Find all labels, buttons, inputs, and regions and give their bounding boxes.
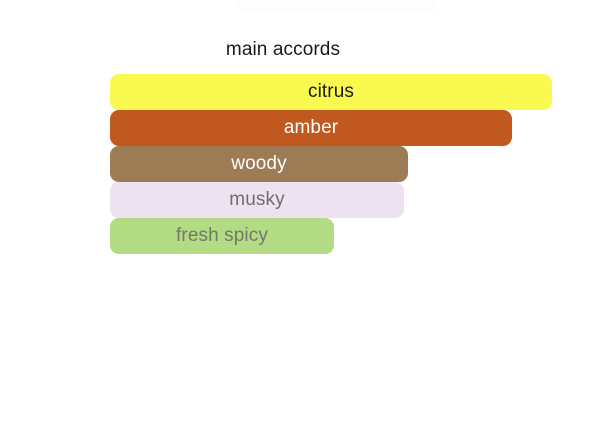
top-edge-band (236, 0, 438, 11)
bar-row: fresh spicy (110, 218, 570, 254)
accord-bar-fresh-spicy[interactable]: fresh spicy (110, 218, 334, 254)
accord-bar-label: musky (229, 190, 284, 210)
bar-row: citrus (110, 74, 570, 110)
accord-bar-label: fresh spicy (176, 226, 268, 246)
accord-bar-label: amber (284, 118, 338, 138)
accord-bar-woody[interactable]: woody (110, 146, 408, 182)
accord-bar-label: citrus (308, 82, 354, 102)
page-title: main accords (0, 38, 613, 62)
accord-bar-citrus[interactable]: citrus (110, 74, 552, 110)
bar-row: woody (110, 146, 570, 182)
bar-row: musky (110, 182, 570, 218)
accord-bar-amber[interactable]: amber (110, 110, 512, 146)
bar-row: amber (110, 110, 570, 146)
accords-bar-chart: citrus amber woody musky fresh spicy (110, 74, 570, 254)
accord-bar-musky[interactable]: musky (110, 182, 404, 218)
accord-bar-label: woody (231, 154, 286, 174)
